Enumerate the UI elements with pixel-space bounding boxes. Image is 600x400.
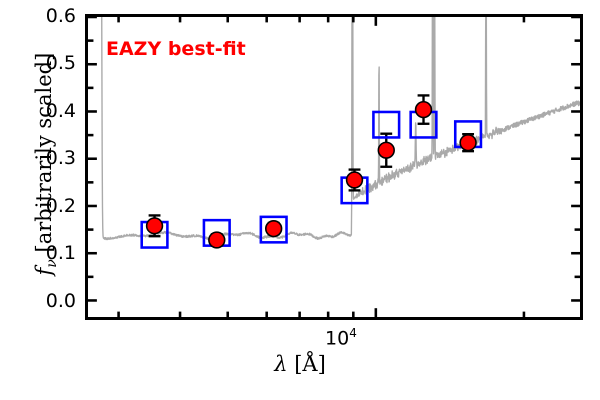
annotation-eazy-best-fit: EAZY best-fit [106,38,246,60]
x-axis-label-lambda: λ [274,352,287,376]
observed-photometry-point [209,232,225,248]
y-axis-label: fν [arbitrarily scaled] [32,14,60,314]
x-axis-label: λ [Å] [0,352,600,376]
observed-photometry-point [147,218,163,234]
model-photometry-group [142,112,481,248]
plot-svg [88,17,580,317]
observed-photometry-point [460,135,476,151]
observed-photometry-point [266,221,282,237]
y-axis-label-f: f [32,268,56,276]
xtick-label-10000: 104 [325,326,357,349]
observed-photometry-point [378,142,394,158]
observed-photometry-point [416,102,432,118]
y-axis-label-nu: ν [44,259,60,268]
x-axis-label-unit: [Å] [294,352,326,376]
figure-root: 0.6 0.5 0.4 0.3 0.2 0.1 0.0 104 fν [arbi… [0,0,600,400]
observed-photometry-point [347,172,363,188]
y-axis-label-rest: [arbitrarily scaled] [32,53,56,259]
axis-ticks [88,17,580,317]
